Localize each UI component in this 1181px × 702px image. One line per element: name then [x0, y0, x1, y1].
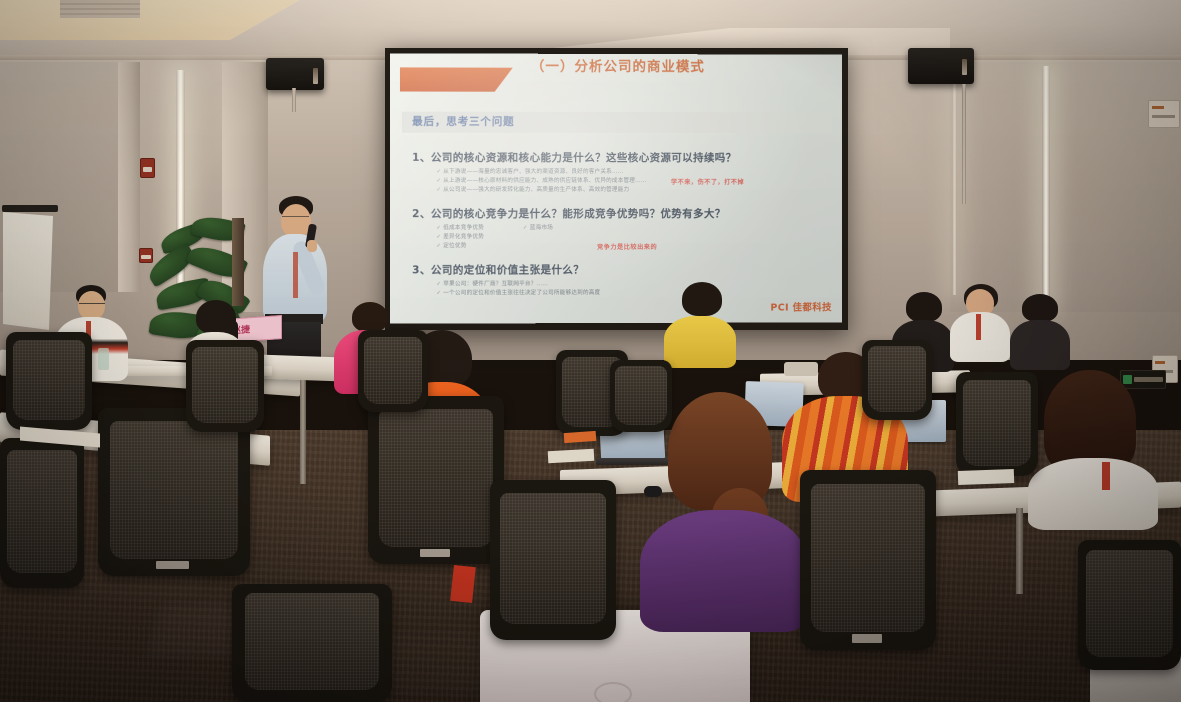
slide-subtitle: 最后，思考三个问题 [412, 114, 514, 129]
presenter-lanyard [293, 252, 298, 298]
chair-mesh [7, 450, 78, 573]
plant-stem [232, 218, 244, 306]
wall-light-strip-right [1042, 66, 1050, 311]
ceiling-speaker-left [266, 58, 324, 90]
desk-phone [784, 362, 818, 376]
attendee-right-white-shirt [950, 284, 1012, 362]
wall-column-left [118, 62, 140, 292]
projection-screen: （一）分析公司的商业模式 最后，思考三个问题 1、公司的核心资源和核心能力是什么… [385, 48, 848, 330]
attendee-white-top [1028, 458, 1158, 530]
speaker-stem-right [962, 84, 966, 204]
chair-back-left[interactable] [6, 332, 92, 430]
attendee-hair [1022, 294, 1058, 322]
attendee-glasses [79, 303, 105, 308]
slide-q2-bullets: ✓低成本竞争优势 ✓差异化竞争优势 ✓定位优势 [436, 224, 484, 252]
speaker-stem-left [292, 88, 296, 112]
ceiling-speaker-right [908, 48, 974, 84]
table-leg [1016, 508, 1023, 594]
chair-mid-center[interactable] [610, 360, 672, 432]
attendee-yellow-top [664, 316, 736, 368]
fire-alarm-icon [140, 158, 155, 178]
flipchart-paper [3, 212, 53, 330]
chair-foreground-left[interactable] [232, 584, 392, 702]
pci-company-logo: PCI 佳都科技 [770, 299, 831, 313]
attendee-right-long-hair [1028, 370, 1158, 530]
chair-right-mid[interactable] [956, 372, 1038, 476]
chair-left-front[interactable] [98, 408, 250, 576]
wall-panel-right [950, 62, 1181, 312]
hp-logo-icon [594, 682, 632, 702]
chair-label [156, 561, 189, 569]
table-leg [300, 380, 306, 484]
chair-mesh [811, 484, 925, 632]
attendee-hair [682, 282, 722, 316]
flipchart-top-bar [2, 205, 58, 212]
slide-question-3: 3、公司的定位和价值主张是什么？ [412, 262, 584, 277]
attendee-dark-top [1010, 320, 1070, 370]
chair-far-right-front[interactable] [1078, 540, 1181, 670]
water-bottle [98, 348, 109, 370]
attendee-yellow [660, 282, 740, 368]
slide-q3-bullets: ✓苹果公司：硬件厂商？互联网平台？…… ✓一个公司的定位和价值主张往往决定了公司… [436, 280, 600, 299]
chair-center-front[interactable] [490, 480, 616, 640]
attendee-hair [352, 302, 388, 332]
wall-switch-panel [1148, 100, 1180, 128]
chair-mesh [379, 409, 493, 547]
chair-label [420, 549, 450, 557]
wall-light-strip-mid [952, 80, 957, 295]
chair-mesh [192, 347, 258, 422]
computer-mouse[interactable] [644, 486, 662, 497]
slide-q1-bullets: ✓从下游说——海量的忠诚客户、强大的渠道资源、良好的客户关系…… ✓从上游说——… [436, 168, 646, 196]
slide-question-1: 1、公司的核心资源和核心能力是什么？这些核心资源可以持续吗？ [412, 150, 736, 165]
chair-mesh [1086, 550, 1173, 657]
chair-back-left-2[interactable] [186, 340, 264, 432]
chair-mesh [615, 366, 667, 425]
paper-sheet [958, 469, 1014, 485]
chair-mesh [364, 337, 423, 404]
slide-title: （一）分析公司的商业模式 [531, 55, 705, 75]
title-chevron-shape [400, 67, 513, 91]
attendee-right-dark [1010, 294, 1072, 370]
chair-center-left[interactable] [368, 396, 504, 564]
presenter-glasses [282, 216, 309, 222]
slide-q2-annotation: 竞争力是比较出来的 [597, 242, 657, 251]
chair-right-front[interactable] [800, 470, 936, 650]
attendee-lanyard [976, 314, 981, 340]
chair-mesh [245, 593, 379, 690]
slide-q1-annotation: 学不来，伤不了，打不掉 [671, 177, 744, 186]
chair-mesh [13, 340, 85, 420]
chair-right-back[interactable] [862, 340, 932, 420]
attendee-hair [906, 292, 942, 322]
red-booklet [450, 565, 476, 603]
chair-mesh [500, 493, 606, 624]
attendee-lanyard [1102, 462, 1110, 490]
chair-mesh [963, 380, 1032, 465]
chair-center-back[interactable] [358, 330, 428, 412]
seminar-room-photo: （一）分析公司的商业模式 最后，思考三个问题 1、公司的核心资源和核心能力是什么… [0, 0, 1181, 702]
chair-mesh [868, 346, 927, 412]
chair-label [852, 634, 882, 643]
slide-question-2: 2、公司的核心竞争力是什么？能形成竞争优势吗？优势有多大？ [412, 206, 726, 221]
slide-q2-bullets-right: ✓蓝海市场 [523, 224, 553, 233]
chair-mesh [110, 421, 238, 559]
presenter-hand [307, 240, 317, 252]
presentation-slide: （一）分析公司的商业模式 最后，思考三个问题 1、公司的核心资源和核心能力是什么… [390, 53, 842, 323]
ceiling-vent [60, 0, 140, 18]
chair-far-left[interactable] [0, 438, 84, 588]
paper-sheet [548, 449, 595, 463]
attendee-purple-top [640, 510, 808, 632]
attendee-hair [668, 392, 772, 510]
